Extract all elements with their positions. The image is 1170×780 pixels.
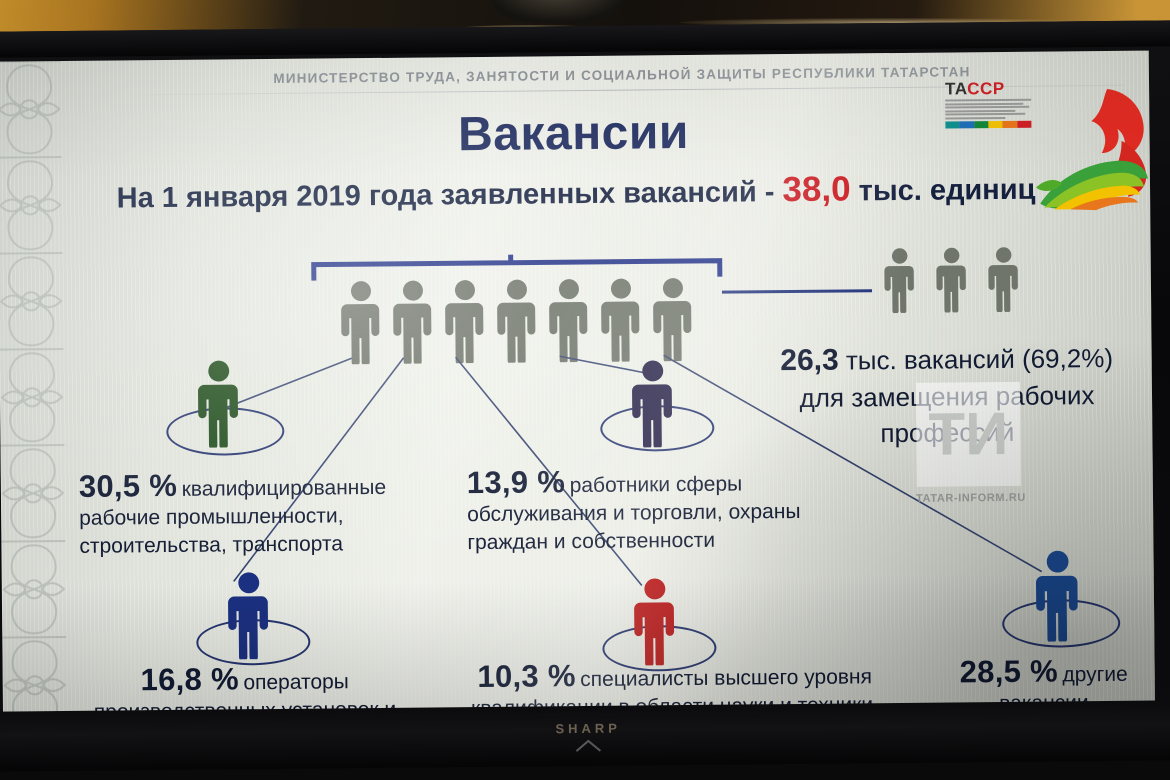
pictogram-figure-blue-left — [226, 571, 273, 659]
tassr-colorbar — [945, 120, 1031, 128]
callout-service-trade: 13,9 % работники сферы обслуживания и то… — [467, 461, 868, 556]
callout-1-pct: 13,9 % — [467, 464, 566, 500]
callout-1-rest: обслуживания и торговли, охраны граждан … — [467, 497, 868, 556]
presentation-slide: Министерство труда, занятости и социальн… — [0, 51, 1155, 734]
callout-3-lead: специалисты высшего уровня — [580, 665, 872, 691]
tulip-emblem — [1029, 81, 1150, 212]
watermark-url: TATAR-INFORM.RU — [901, 492, 1041, 505]
blue-collar-value: 26,3 — [780, 344, 839, 378]
callout-2-lead: операторы — [243, 670, 349, 694]
headline-value: 38,0 — [782, 169, 850, 209]
callout-1-lead: работники сферы — [570, 472, 743, 497]
callout-0-rest: рабочие промышленности, строительства, т… — [79, 501, 460, 560]
pictogram-figure-green — [196, 359, 243, 447]
watermark-logo: ТИ — [916, 382, 1021, 487]
ceiling-light-fixture — [487, 0, 627, 22]
pictogram-figure-grey-8 — [883, 247, 918, 313]
headline: На 1 января 2019 года заявленных ваканси… — [22, 167, 1130, 218]
screenshot-root: AQUOS — [0, 0, 1170, 780]
blue-collar-line-1-rest: тыс. вакансий (69,2%) — [839, 343, 1114, 376]
callout-0-lead: квалифицированные — [182, 476, 387, 501]
bracket-connector-line — [722, 289, 872, 293]
pictogram-figure-blue-right — [1033, 549, 1082, 641]
callout-0-pct: 30,5 % — [79, 468, 178, 504]
callout-skilled-workers: 30,5 % квалифицированные рабочие промышл… — [79, 465, 460, 560]
television-display: AQUOS — [0, 20, 1170, 771]
blue-collar-line-1: 26,3 тыс. вакансий (69,2%) — [741, 337, 1151, 382]
callout-3-pct: 10,3 % — [477, 658, 576, 694]
pictogram-figure-grey-10 — [987, 246, 1022, 312]
pictogram-figure-grey-2 — [391, 279, 436, 363]
callout-4-lead: другие — [1062, 663, 1127, 687]
callout-2-pct: 16,8 % — [140, 661, 239, 697]
callout-4-pct: 28,5 % — [959, 653, 1058, 689]
pictogram-figure-grey-7 — [651, 277, 696, 361]
tassr-wordmark: ТАССР — [945, 80, 1031, 98]
pictogram-figure-red — [632, 577, 679, 665]
grouping-bracket — [311, 251, 723, 281]
tassr-logo: ТАССР — [945, 80, 1032, 137]
tassr-word-2: ССР — [967, 79, 1005, 98]
pictogram-figure-grey-6 — [599, 277, 644, 361]
tassr-word-1: ТА — [945, 79, 967, 98]
chevron-up-icon — [575, 739, 601, 752]
headline-after: тыс. единиц — [850, 174, 1035, 208]
headline-before: На 1 января 2019 года заявленных ваканси… — [117, 176, 783, 214]
pictogram-figure-grey-4 — [495, 278, 540, 362]
pictogram-figure-grey-5 — [547, 278, 592, 362]
pictogram-figure-grey-9 — [935, 246, 970, 312]
tassr-microtext — [945, 99, 1031, 119]
pictogram-figure-grey-1 — [339, 280, 384, 364]
watermark-mark: ТИ — [928, 404, 1008, 465]
pictogram-figure-grey-3 — [443, 279, 488, 363]
pictogram-figure-navy — [630, 359, 677, 447]
